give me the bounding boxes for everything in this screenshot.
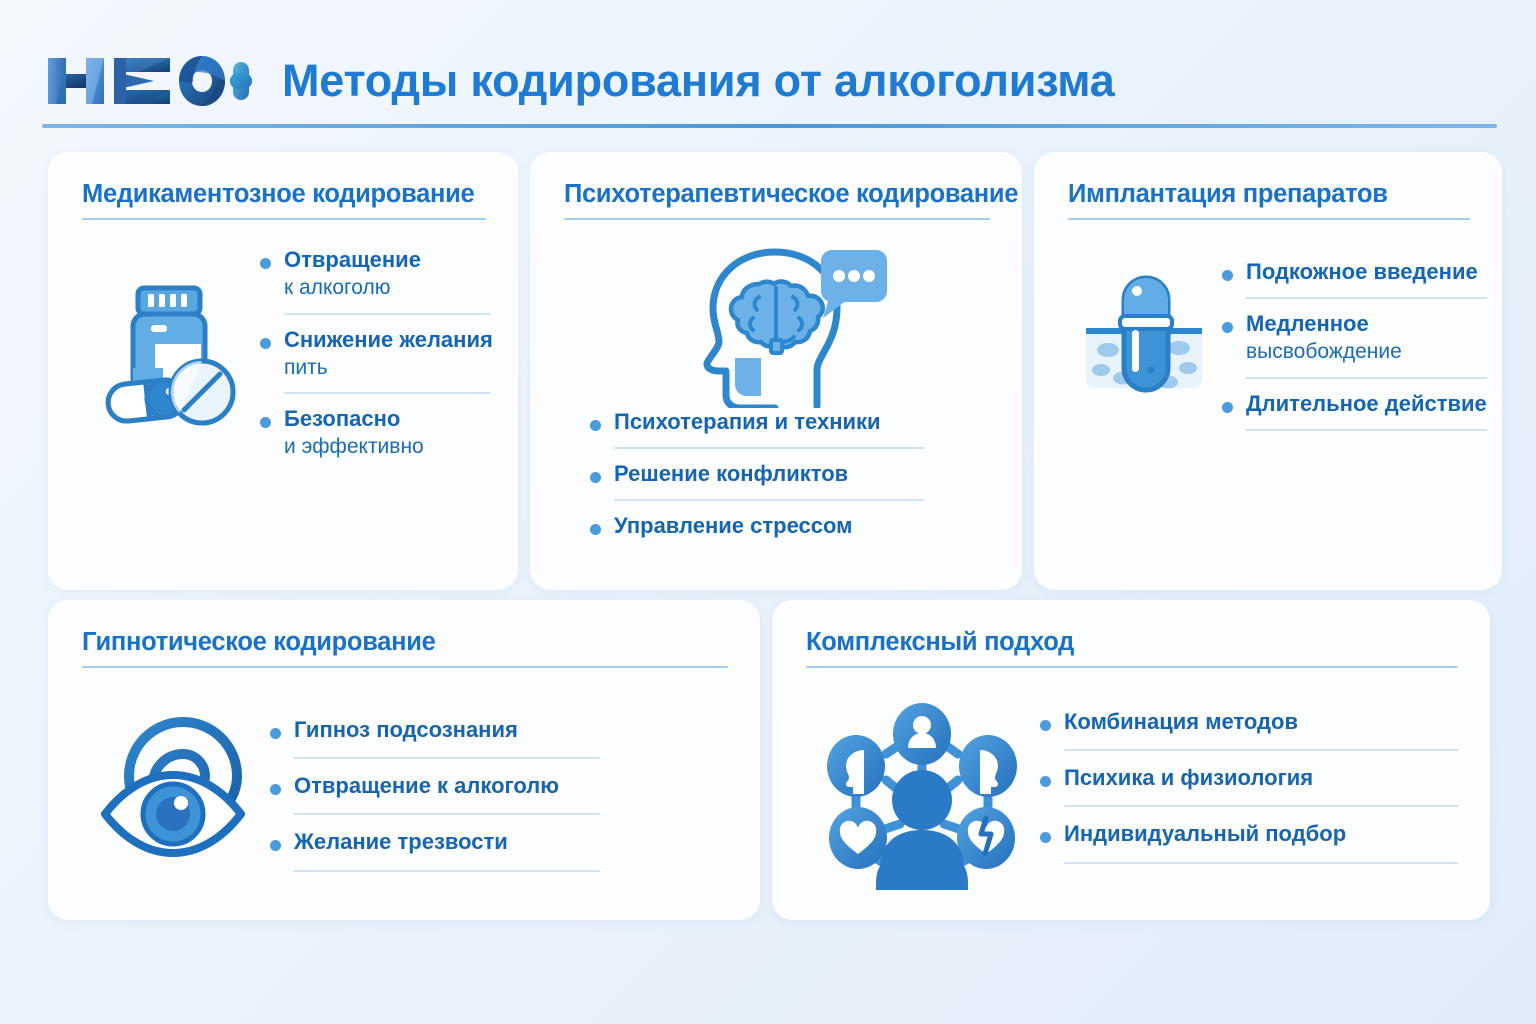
card-title: Медикаментозное кодирование bbox=[82, 180, 486, 208]
bullet-line-primary: Длительное действие bbox=[1246, 390, 1487, 418]
list-item: Гипноз подсознания bbox=[268, 716, 728, 744]
bullet-line-secondary: пить bbox=[284, 354, 493, 381]
bullet-line-primary: Управление стрессом bbox=[614, 512, 990, 540]
bullet-divider bbox=[1064, 862, 1458, 864]
bullet-line-primary: Медленное bbox=[1246, 310, 1487, 338]
bullet-line-primary: Снижение желания bbox=[284, 326, 493, 354]
list-item: Решение конфликтов bbox=[588, 460, 990, 488]
bullet-dot bbox=[260, 417, 271, 428]
bullet-dot bbox=[1040, 832, 1051, 843]
list-item: Безопасно и эффективно bbox=[258, 405, 493, 460]
bullet-divider bbox=[294, 757, 600, 759]
list-item: Комбинация методов bbox=[1038, 708, 1458, 736]
list-item: Медленное высвобождение bbox=[1220, 310, 1487, 365]
bullet-list: Комбинация методов Психика и физиология … bbox=[1038, 694, 1458, 892]
bullet-line-primary: Решение конфликтов bbox=[614, 460, 990, 488]
header-divider bbox=[42, 124, 1497, 128]
card-implantaciya[interactable]: Имплантация препаратов bbox=[1034, 152, 1502, 590]
bullet-line-primary: Желание трезвости bbox=[294, 828, 728, 856]
bullet-dot bbox=[270, 784, 281, 795]
bullet-dot bbox=[590, 420, 601, 431]
list-item: Психика и физиология bbox=[1038, 764, 1458, 792]
list-item: Психотерапия и техники bbox=[588, 408, 990, 436]
bullet-list: Отвращение к алкоголю Снижение желания п… bbox=[258, 244, 493, 460]
card-psihoterapevticheskoe[interactable]: Психотерапевтическое кодирование bbox=[530, 152, 1022, 590]
bullet-divider bbox=[1064, 805, 1458, 807]
bullet-dot bbox=[1040, 776, 1051, 787]
bullet-list: Гипноз подсознания Отвращение к алкоголю… bbox=[268, 694, 728, 884]
card-title-underline bbox=[806, 666, 1458, 668]
list-item: Отвращение к алкоголю bbox=[268, 772, 728, 800]
bullet-divider bbox=[614, 499, 924, 501]
bullet-dot bbox=[1222, 402, 1233, 413]
bullet-dot bbox=[270, 728, 281, 739]
bullet-dot bbox=[1040, 720, 1051, 731]
bullet-dot bbox=[1222, 322, 1233, 333]
card-title: Гипнотическое кодирование bbox=[82, 628, 728, 656]
list-item: Снижение желания пить bbox=[258, 326, 493, 381]
card-kompleksnyy[interactable]: Комплексный подход bbox=[772, 600, 1490, 920]
bullet-divider bbox=[284, 313, 491, 315]
card-title-underline bbox=[1068, 218, 1470, 220]
card-title: Комплексный подход bbox=[806, 628, 1458, 656]
list-item: Длительное действие bbox=[1220, 390, 1487, 418]
card-gipnoticheskoe[interactable]: Гипнотическое кодирование bbox=[48, 600, 760, 920]
list-item: Отвращение к алкоголю bbox=[258, 246, 493, 301]
bullet-dot bbox=[1222, 270, 1233, 281]
bullet-list: Подкожное введение Медленное высвобожден… bbox=[1220, 244, 1487, 442]
bullet-line-primary: Подкожное введение bbox=[1246, 258, 1487, 286]
card-title-underline bbox=[564, 218, 990, 220]
head-brain-speech-icon bbox=[663, 234, 891, 408]
bullet-line-secondary: к алкоголю bbox=[284, 274, 493, 301]
bullet-line-secondary: высвобождение bbox=[1246, 338, 1487, 365]
pill-bottle-icon bbox=[82, 244, 258, 460]
card-title-underline bbox=[82, 666, 728, 668]
people-network-icon bbox=[806, 694, 1038, 892]
bullet-line-primary: Отвращение bbox=[284, 246, 493, 274]
bullet-divider bbox=[1246, 429, 1487, 431]
bullet-dot bbox=[590, 524, 601, 535]
bullet-divider bbox=[284, 392, 491, 394]
neo-plus-logo bbox=[42, 50, 254, 112]
bullet-divider bbox=[294, 870, 600, 872]
card-title: Имплантация препаратов bbox=[1068, 180, 1470, 208]
bullet-line-secondary: и эффективно bbox=[284, 433, 493, 460]
bullet-divider bbox=[1246, 297, 1487, 299]
bullet-dot bbox=[270, 840, 281, 851]
page-title: Методы кодирования от алкоголизма bbox=[282, 55, 1115, 107]
bullet-line-primary: Отвращение к алкоголю bbox=[294, 772, 728, 800]
list-item: Управление стрессом bbox=[588, 512, 990, 540]
bullet-line-primary: Психотерапия и техники bbox=[614, 408, 990, 436]
bullet-divider bbox=[294, 813, 600, 815]
bullet-dot bbox=[260, 338, 271, 349]
bullet-line-primary: Психика и физиология bbox=[1064, 764, 1458, 792]
bullet-line-primary: Индивидуальный подбор bbox=[1064, 820, 1458, 848]
card-title: Психотерапевтическое кодирование bbox=[564, 180, 990, 208]
card-medikamentoznoe[interactable]: Медикаментозное кодирование bbox=[48, 152, 518, 590]
bullet-dot bbox=[590, 472, 601, 483]
capsule-implant-icon bbox=[1068, 244, 1220, 442]
bullet-list: Психотерапия и техники Решение конфликто… bbox=[564, 408, 990, 540]
cards-grid: Медикаментозное кодирование bbox=[48, 152, 1490, 920]
bullet-divider bbox=[1246, 377, 1487, 379]
bullet-divider bbox=[614, 447, 924, 449]
bullet-line-primary: Гипноз подсознания bbox=[294, 716, 728, 744]
bullet-line-primary: Безопасно bbox=[284, 405, 493, 433]
list-item: Подкожное введение bbox=[1220, 258, 1487, 286]
bullet-divider bbox=[1064, 749, 1458, 751]
card-title-underline bbox=[82, 218, 486, 220]
bullet-dot bbox=[260, 258, 271, 269]
list-item: Индивидуальный подбор bbox=[1038, 820, 1458, 848]
list-item: Желание трезвости bbox=[268, 828, 728, 856]
hypnosis-eye-spiral-icon bbox=[82, 694, 268, 884]
page-header: Методы кодирования от алкоголизма bbox=[42, 34, 1498, 128]
bullet-line-primary: Комбинация методов bbox=[1064, 708, 1458, 736]
